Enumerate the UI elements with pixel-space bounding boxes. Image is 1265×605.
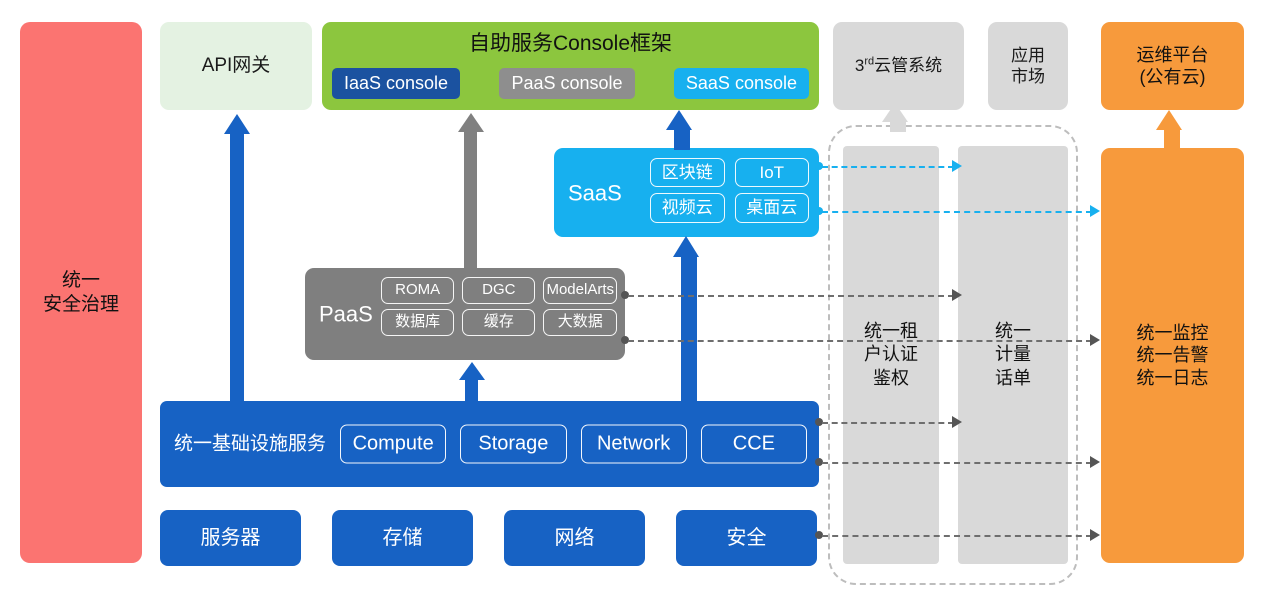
panel-ops-platform[interactable]: 运维平台 (公有云) <box>1101 22 1244 110</box>
paas-item-roma[interactable]: ROMA <box>381 277 454 304</box>
infra-item-storage[interactable]: Storage <box>460 425 566 464</box>
arrow-infra-to-api-gateway-shaft <box>230 132 244 402</box>
resource-box-storage[interactable]: 存储 <box>332 510 473 566</box>
arrow-infra-to-paas-head <box>459 362 485 380</box>
arrow-infra-to-saas-shaft <box>681 255 697 402</box>
resource-label-storage: 存储 <box>383 526 423 551</box>
chip-iaas-console[interactable]: IaaS console <box>332 68 460 99</box>
third-party-superscript: rd <box>864 56 874 68</box>
monitoring-line-1: 统一监控 <box>1137 322 1209 345</box>
resource-label-security: 安全 <box>727 526 767 551</box>
monitoring-text: 统一监控 统一告警 统一日志 <box>1137 322 1209 390</box>
dashed-infra-to-auth-head <box>952 416 962 428</box>
resource-box-network[interactable]: 网络 <box>504 510 645 566</box>
billing-text: 统一 计量 话单 <box>995 320 1031 390</box>
arrow-saas-to-console-head <box>666 110 692 130</box>
app-market-line-2: 市场 <box>1011 66 1045 87</box>
app-market-line-1: 应用 <box>1011 45 1045 66</box>
resource-label-server: 服务器 <box>201 526 261 551</box>
paas-service-grid: ROMA DGC ModelArts 数据库 缓存 大数据 <box>381 277 617 336</box>
saas-item-blockchain[interactable]: 区块链 <box>650 158 725 187</box>
layer-unified-infrastructure[interactable]: 统一基础设施服务 Compute Storage Network CCE <box>160 401 819 487</box>
paas-item-database[interactable]: 数据库 <box>381 309 454 336</box>
dashed-saas-to-auth <box>822 166 954 168</box>
saas-item-iot[interactable]: IoT <box>735 158 810 187</box>
arrow-shared-to-third-party-head <box>882 103 908 122</box>
monitoring-line-3: 统一日志 <box>1137 367 1209 390</box>
column-unified-tenant-auth[interactable]: 统一租 户认证 鉴权 <box>843 146 939 564</box>
panel-third-party-cloud-mgmt[interactable]: 3rd云管系统 <box>833 22 964 110</box>
billing-line-2: 计量 <box>995 343 1031 366</box>
arrow-paas-to-console-shaft <box>464 130 477 268</box>
dashed-saas-to-monitoring-head <box>1090 205 1100 217</box>
dashed-saas-to-auth-head <box>952 160 962 172</box>
security-line-1: 统一 <box>43 269 119 293</box>
billing-line-3: 话单 <box>995 367 1031 390</box>
dashed-paas-to-auth <box>628 295 954 297</box>
resource-box-security[interactable]: 安全 <box>676 510 817 566</box>
paas-item-modelarts[interactable]: ModelArts <box>543 277 617 304</box>
panel-console-framework[interactable]: 自助服务Console框架 IaaS console PaaS console … <box>322 22 819 110</box>
ops-platform-line-2: (公有云) <box>1137 66 1209 89</box>
panel-app-market[interactable]: 应用 市场 <box>988 22 1068 110</box>
column-unified-metering-billing[interactable]: 统一 计量 话单 <box>958 146 1068 564</box>
infra-item-compute[interactable]: Compute <box>340 425 446 464</box>
paas-item-cache[interactable]: 缓存 <box>462 309 535 336</box>
arrow-infra-to-paas-shaft <box>465 378 478 402</box>
arrow-saas-to-console-shaft <box>674 128 690 150</box>
third-party-label: 3rd云管系统 <box>855 55 942 76</box>
paas-layer-label: PaaS <box>319 300 373 328</box>
arrow-paas-to-console-head <box>458 113 484 132</box>
layer-paas[interactable]: PaaS ROMA DGC ModelArts 数据库 缓存 大数据 <box>305 268 625 360</box>
dashed-paas-to-monitoring-head <box>1090 334 1100 346</box>
auth-line-2: 户认证 <box>864 343 918 366</box>
saas-layer-label: SaaS <box>568 179 622 207</box>
resource-label-network: 网络 <box>555 526 595 551</box>
architecture-diagram: 统一 安全治理 API网关 自助服务Console框架 IaaS console… <box>0 0 1265 605</box>
auth-text: 统一租 户认证 鉴权 <box>864 320 918 390</box>
paas-item-bigdata[interactable]: 大数据 <box>543 309 617 336</box>
third-party-suffix: 云管系统 <box>874 56 942 75</box>
arrow-monitoring-to-ops-platform-shaft <box>1164 128 1180 150</box>
infra-layer-label: 统一基础设施服务 <box>174 432 326 456</box>
dashed-infra-to-monitoring-head <box>1090 456 1100 468</box>
panel-unified-security-governance[interactable]: 统一 安全治理 <box>20 22 142 563</box>
console-chip-group: IaaS console PaaS console SaaS console <box>332 68 809 99</box>
saas-item-video-cloud[interactable]: 视频云 <box>650 193 725 222</box>
console-framework-title: 自助服务Console框架 <box>322 31 819 57</box>
panel-unified-monitoring[interactable]: 统一监控 统一告警 统一日志 <box>1101 148 1244 563</box>
monitoring-line-2: 统一告警 <box>1137 344 1209 367</box>
third-party-prefix: 3 <box>855 56 864 75</box>
dashed-paas-to-monitoring <box>628 340 1092 342</box>
api-gateway-label: API网关 <box>202 54 271 78</box>
layer-saas[interactable]: SaaS 区块链 IoT 视频云 桌面云 <box>554 148 819 237</box>
paas-item-dgc[interactable]: DGC <box>462 277 535 304</box>
arrow-infra-to-api-gateway-head <box>224 114 250 134</box>
chip-saas-console[interactable]: SaaS console <box>674 68 809 99</box>
dashed-saas-to-monitoring <box>822 211 1092 213</box>
saas-service-grid: 区块链 IoT 视频云 桌面云 <box>650 158 809 223</box>
chip-paas-console[interactable]: PaaS console <box>499 68 634 99</box>
dashed-resources-to-monitoring <box>822 535 1092 537</box>
dashed-resources-to-monitoring-head <box>1090 529 1100 541</box>
arrow-infra-to-saas-head <box>673 236 699 257</box>
arrow-monitoring-to-ops-platform-head <box>1156 110 1182 130</box>
panel-api-gateway[interactable]: API网关 <box>160 22 312 110</box>
ops-platform-text: 运维平台 (公有云) <box>1137 44 1209 89</box>
infra-item-cce[interactable]: CCE <box>701 425 807 464</box>
security-line-2: 安全治理 <box>43 293 119 317</box>
app-market-text: 应用 市场 <box>1011 45 1045 88</box>
dashed-infra-to-monitoring <box>822 462 1092 464</box>
saas-item-desktop-cloud[interactable]: 桌面云 <box>735 193 810 222</box>
dashed-paas-to-auth-head <box>952 289 962 301</box>
resource-box-server[interactable]: 服务器 <box>160 510 301 566</box>
dashed-infra-to-auth <box>822 422 954 424</box>
ops-platform-line-1: 运维平台 <box>1137 44 1209 67</box>
panel-security-text: 统一 安全治理 <box>43 269 119 317</box>
auth-line-3: 鉴权 <box>864 367 918 390</box>
infra-inner-row: 统一基础设施服务 Compute Storage Network CCE <box>174 425 807 464</box>
infra-item-network[interactable]: Network <box>581 425 687 464</box>
